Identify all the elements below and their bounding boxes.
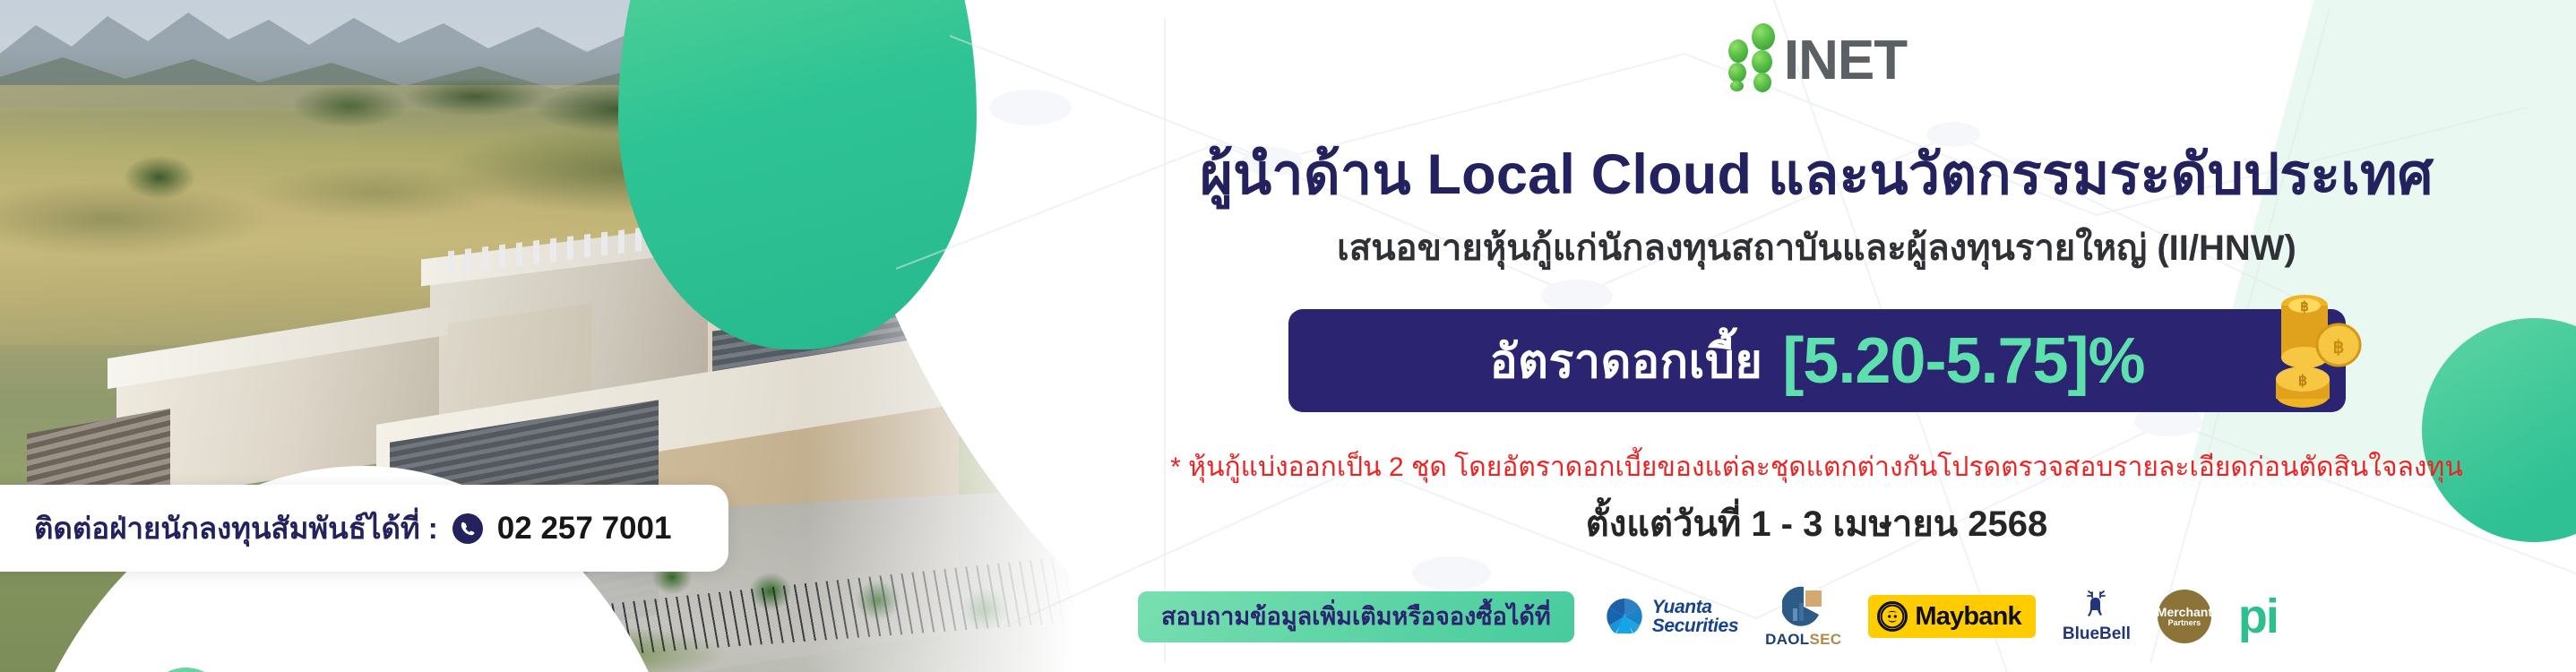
contact-label: ติดต่อฝ่ายนักลงทุนสัมพันธ์ได้ที่ : bbox=[34, 504, 438, 552]
daol-text-light: SEC bbox=[1810, 631, 1842, 648]
inet-dots-logo-icon bbox=[1727, 20, 1779, 86]
partner-logo-merchant-partners[interactable]: Merchant Partners bbox=[2158, 590, 2211, 643]
partner-logo-pi[interactable]: pi bbox=[2238, 599, 2278, 634]
partner-logo-bluebell[interactable]: BlueBell bbox=[2063, 589, 2131, 644]
yuanta-line2: Securities bbox=[1652, 616, 1738, 635]
bluebell-text: BlueBell bbox=[2063, 625, 2131, 644]
gold-coins-icon: ฿ ฿ ฿ bbox=[2258, 280, 2365, 428]
pi-text: pi bbox=[2238, 599, 2278, 634]
svg-text:฿: ฿ bbox=[2300, 299, 2309, 314]
svg-text:฿: ฿ bbox=[2333, 338, 2345, 358]
disclaimer-footnote: * หุ้นกู้แบ่งออกเป็น 2 ชุด โดยอัตราดอกเบ… bbox=[1057, 446, 2576, 488]
offering-dates: ตั้งแต่วันที่ 1 - 3 เมษายน 2568 bbox=[1057, 495, 2576, 552]
phone-icon bbox=[452, 513, 483, 544]
daol-pie-icon bbox=[1782, 585, 1825, 628]
merchant-line1: Merchant bbox=[2157, 606, 2212, 619]
large-tree bbox=[108, 151, 215, 222]
maybank-text: Maybank bbox=[1915, 602, 2021, 632]
yuanta-line1: Yuanta bbox=[1652, 598, 1738, 616]
partner-logo-daol[interactable]: DAOLSEC bbox=[1765, 585, 1841, 649]
contact-phone-number: 02 257 7001 bbox=[497, 511, 672, 547]
merchant-line2: Partners bbox=[2168, 619, 2201, 627]
interest-rate-label: อัตราดอกเบี้ย bbox=[1489, 323, 1762, 398]
interest-rate-box: อัตราดอกเบี้ย [5.20-5.75]% ฿ ฿ ฿ bbox=[1288, 309, 2346, 412]
interest-rate-value: [5.20-5.75]% bbox=[1782, 324, 2144, 398]
promo-banner: INET ผู้นำด้าน Local Cloud และนวัตกรรมระ… bbox=[0, 0, 2576, 672]
daol-text-bold: DAOL bbox=[1765, 631, 1809, 648]
maybank-tiger-icon bbox=[1877, 601, 1908, 632]
content-column: INET ผู้นำด้าน Local Cloud และนวัตกรรมระ… bbox=[1057, 0, 2576, 672]
inet-logo: INET bbox=[1057, 14, 2576, 86]
inet-logo-text: INET bbox=[1784, 36, 1907, 86]
cta-and-partners-row: สอบถามข้อมูลเพิ่มเติมหรือจองซื้อได้ที่ bbox=[1057, 581, 2576, 652]
partner-logos: Yuanta Securities DAOLSEC bbox=[1605, 585, 2278, 649]
yuanta-star-icon bbox=[1605, 597, 1644, 636]
investor-relations-contact-card: ติดต่อฝ่ายนักลงทุนสัมพันธ์ได้ที่ : 02 25… bbox=[0, 485, 728, 572]
partner-logo-yuanta[interactable]: Yuanta Securities bbox=[1605, 597, 1738, 636]
bluebell-stag-icon bbox=[2081, 589, 2113, 623]
partner-logo-maybank[interactable]: Maybank bbox=[1868, 595, 2036, 638]
subheadline: เสนอขายหุ้นกู้แก่นักลงทุนสถาบันและผู้ลงท… bbox=[1057, 227, 2576, 270]
headline: ผู้นำด้าน Local Cloud และนวัตกรรมระดับปร… bbox=[1057, 143, 2576, 207]
inquiry-button[interactable]: สอบถามข้อมูลเพิ่มเติมหรือจองซื้อได้ที่ bbox=[1138, 591, 1574, 642]
svg-text:฿: ฿ bbox=[2298, 374, 2307, 389]
